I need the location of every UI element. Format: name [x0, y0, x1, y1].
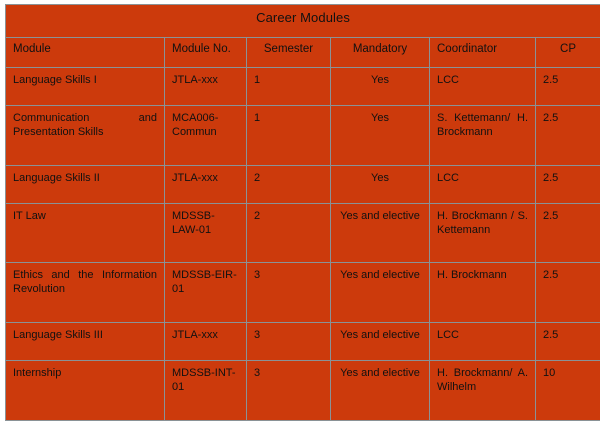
cell-semester: 2	[247, 203, 331, 263]
cell-mandatory: Yes and elective	[331, 361, 430, 421]
column-header-module-no: Module No.	[165, 38, 247, 68]
cell-cp: 2.5	[536, 203, 600, 263]
cell-moduleno: JTLA-xxx	[165, 165, 247, 203]
cell-semester: 2	[247, 165, 331, 203]
cell-module: IT Law	[6, 203, 165, 263]
table-row: Communication and Presentation SkillsMCA…	[6, 105, 600, 165]
cell-mandatory: Yes	[331, 105, 430, 165]
cell-moduleno: MCA006-Commun	[165, 105, 247, 165]
cell-cp: 2.5	[536, 68, 600, 106]
page-root: Career Modules Module Module No. Semeste…	[0, 0, 600, 426]
column-header-cp: CP	[536, 38, 600, 68]
cell-module: Language Skills III	[6, 323, 165, 361]
table-title-row: Career Modules	[6, 5, 600, 38]
career-modules-table: Career Modules Module Module No. Semeste…	[5, 4, 600, 421]
column-header-semester: Semester	[247, 38, 331, 68]
cell-moduleno: JTLA-xxx	[165, 323, 247, 361]
cell-mandatory: Yes and elective	[331, 323, 430, 361]
cell-moduleno: MDSSB-LAW-01	[165, 203, 247, 263]
cell-coordinator: H. Brockmann/ A. Wilhelm	[430, 361, 536, 421]
cell-semester: 1	[247, 68, 331, 106]
cell-semester: 3	[247, 323, 331, 361]
cell-mandatory: Yes and elective	[331, 203, 430, 263]
cell-cp: 10	[536, 361, 600, 421]
table-row: InternshipMDSSB-INT-013Yes and electiveH…	[6, 361, 600, 421]
cell-moduleno: MDSSB-EIR-01	[165, 263, 247, 323]
column-header-coordinator: Coordinator	[430, 38, 536, 68]
cell-cp: 2.5	[536, 105, 600, 165]
cell-module: Ethics and the Information Revolution	[6, 263, 165, 323]
column-header-module: Module	[6, 38, 165, 68]
table-row: IT LawMDSSB-LAW-012Yes and electiveH. Br…	[6, 203, 600, 263]
cell-coordinator: LCC	[430, 68, 536, 106]
cell-module: Language Skills I	[6, 68, 165, 106]
cell-module: Internship	[6, 361, 165, 421]
table-row: Language Skills IIIJTLA-xxx3Yes and elec…	[6, 323, 600, 361]
cell-mandatory: Yes and elective	[331, 263, 430, 323]
cell-cp: 2.5	[536, 263, 600, 323]
cell-cp: 2.5	[536, 323, 600, 361]
cell-mandatory: Yes	[331, 165, 430, 203]
cell-moduleno: JTLA-xxx	[165, 68, 247, 106]
cell-module: Communication and Presentation Skills	[6, 105, 165, 165]
career-modules-table-container: Career Modules Module Module No. Semeste…	[5, 4, 600, 421]
cell-coordinator: H. Brockmann	[430, 263, 536, 323]
table-row: Language Skills IJTLA-xxx1YesLCC2.5	[6, 68, 600, 106]
cell-semester: 3	[247, 263, 331, 323]
table-title: Career Modules	[6, 5, 600, 38]
cell-module: Language Skills II	[6, 165, 165, 203]
cell-coordinator: S. Kettemann/ H. Brockmann	[430, 105, 536, 165]
table-header-row: Module Module No. Semester Mandatory Coo…	[6, 38, 600, 68]
table-row: Language Skills IIJTLA-xxx2YesLCC2.5	[6, 165, 600, 203]
cell-coordinator: H. Brockmann / S. Kettemann	[430, 203, 536, 263]
cell-moduleno: MDSSB-INT-01	[165, 361, 247, 421]
column-header-mandatory: Mandatory	[331, 38, 430, 68]
table-row: Ethics and the Information RevolutionMDS…	[6, 263, 600, 323]
cell-mandatory: Yes	[331, 68, 430, 106]
cell-cp: 2.5	[536, 165, 600, 203]
table-body: Career Modules Module Module No. Semeste…	[6, 5, 600, 421]
cell-semester: 1	[247, 105, 331, 165]
cell-semester: 3	[247, 361, 331, 421]
cell-coordinator: LCC	[430, 323, 536, 361]
cell-coordinator: LCC	[430, 165, 536, 203]
